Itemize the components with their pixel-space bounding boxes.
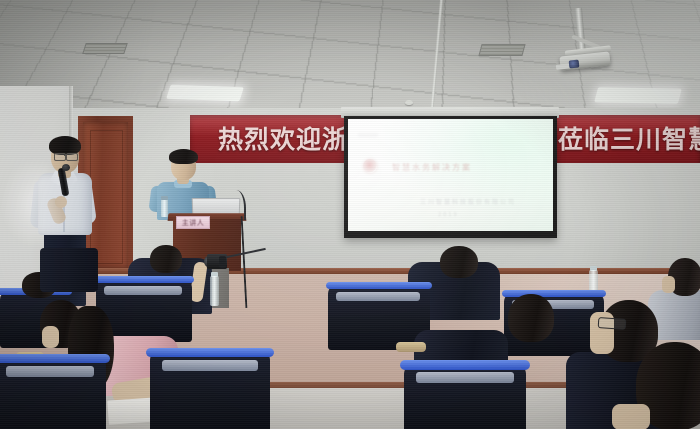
- air-vent-1: [82, 43, 128, 54]
- seat-band-front-left: [162, 360, 258, 371]
- audience-eyeglasses-icon: [598, 317, 627, 330]
- slide-title-text: 智慧水务解决方案: [392, 162, 472, 173]
- standing-person-lower-body: [40, 248, 98, 292]
- air-vent-2: [478, 44, 525, 56]
- seat-frame-back-center: [326, 282, 432, 289]
- microphone-head-icon: [62, 164, 70, 171]
- welcome-banner-left: 热烈欢迎浙江省: [190, 115, 350, 163]
- welcome-banner-right: 莅临三川智慧授课: [556, 115, 700, 163]
- banner-right-text: 莅临三川智慧授课: [556, 127, 700, 152]
- seat-headrest-band-back-center: [336, 292, 420, 301]
- podium-water-bottle: [161, 199, 168, 217]
- slide-logo-icon: [363, 159, 377, 173]
- audience-face-far-right: [662, 276, 675, 293]
- audience-head-right-back: [440, 246, 478, 278]
- ceiling-light-panel-2: [594, 87, 682, 103]
- speaker-glasses-bridge: [64, 155, 67, 156]
- projector-lens-icon: [569, 59, 580, 68]
- podium-sign-text: 主讲人: [182, 218, 205, 228]
- slide-corner-mark: [358, 133, 378, 137]
- ceiling-light-panel-1: [166, 85, 244, 102]
- audience-hand-foreground-right: [612, 404, 650, 429]
- audience-face-pink: [42, 326, 59, 348]
- seat-frame-back-left: [94, 276, 194, 283]
- podium-bottle-cap: [161, 196, 168, 200]
- smoke-detector-icon: [405, 100, 413, 105]
- speaker-hand: [55, 196, 67, 208]
- speaker-glasses-right-lens-icon: [66, 153, 78, 161]
- podium-name-sign: 主讲人: [176, 216, 210, 229]
- camera-grip: [219, 256, 226, 268]
- presenter-hair: [169, 149, 198, 164]
- audience-head-uniform: [150, 245, 182, 273]
- audience-head-mid-center: [508, 294, 554, 342]
- seat-frame-front-left: [146, 348, 274, 357]
- seat-headrest-band-back-left: [104, 286, 182, 295]
- seat-band-front-center: [416, 372, 514, 383]
- seat-frame-front-far-left: [0, 354, 110, 363]
- banner-left-text: 热烈欢迎浙江省: [190, 127, 350, 152]
- seat-frame-front-center: [400, 360, 530, 370]
- seat-band-front-far-left: [6, 366, 94, 377]
- projection-screen-surface: 智慧水务解决方案 三川智慧科技股份有限公司 2019: [348, 119, 553, 231]
- desk-water-bottle-left: [210, 276, 219, 306]
- seat-armrest-center: [396, 342, 426, 352]
- slide-footnote-text: 2019: [438, 212, 459, 218]
- seat-frame-back-right: [502, 290, 606, 297]
- conference-room-photo: 热烈欢迎浙江省 莅临三川智慧授课 智慧水务解决方案 三川智慧科技股份有限公司 2…: [0, 0, 700, 429]
- door-panel-inset: [90, 130, 123, 264]
- slide-subtitle-text: 三川智慧科技股份有限公司: [420, 197, 516, 206]
